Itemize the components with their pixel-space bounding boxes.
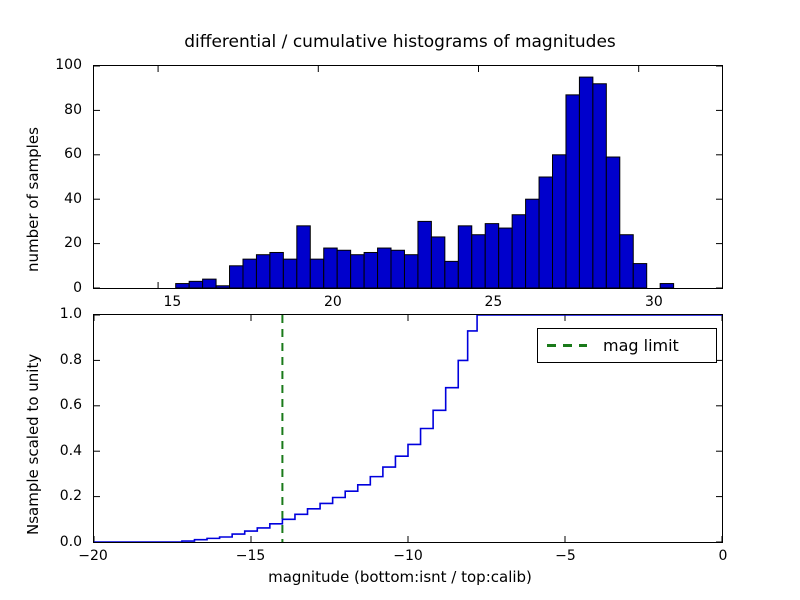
top-xtick-25: 25 [484,294,502,310]
differential-histogram-plot [93,65,723,289]
bottom-xtick-0: 0 [719,548,728,564]
histogram-bar [431,237,444,288]
histogram-bar [579,77,592,288]
top-xtick-30: 30 [645,294,663,310]
histogram-bar [485,224,498,288]
histogram-bar [566,95,579,288]
top-xtick-20: 20 [324,294,342,310]
histogram-bar [230,266,243,288]
top-ytick-20: 20 [46,235,82,251]
mag-limit-legend-swatch [547,344,587,347]
histogram-bar [499,228,512,288]
bottom-xtick-m20: −20 [78,548,108,564]
histogram-bar [593,84,606,288]
histogram-bar [337,250,350,288]
histogram-bar [176,284,189,288]
top-ytick-0: 0 [46,280,82,296]
bottom-ytick-06: 0.6 [40,397,82,413]
histogram-bar [216,286,229,288]
histogram-bar [256,255,269,288]
bottom-ytick-08: 0.8 [40,352,82,368]
histogram-bar [512,215,525,288]
histogram-bar [297,226,310,288]
histogram-bar [418,221,431,288]
bottom-axis-x-label: magnitude (bottom:isnt / top:calib) [0,568,800,586]
histogram-bar [364,252,377,288]
bottom-xtick-m5: −5 [555,548,576,564]
histogram-bar [283,259,296,288]
histogram-bar [243,259,256,288]
bottom-ytick-0: 0.0 [40,534,82,550]
top-xtick-15: 15 [163,294,181,310]
histogram-bar [378,248,391,288]
top-ytick-80: 80 [46,102,82,118]
differential-histogram-svg [94,66,722,288]
histogram-bar [458,226,471,288]
histogram-bar [324,248,337,288]
legend-label-mag-limit: mag limit [603,336,679,355]
histogram-bar [472,235,485,288]
bottom-xtick-m10: −10 [393,548,423,564]
histogram-bar [553,155,566,288]
histogram-bar [310,259,323,288]
histogram-bar [620,235,633,288]
histogram-bar [404,255,417,288]
top-ytick-100: 100 [46,57,82,73]
bottom-ytick-10: 1.0 [40,306,82,322]
histogram-bar [351,255,364,288]
histogram-bar [189,281,202,288]
histogram-bar [445,261,458,288]
histogram-bar [526,199,539,288]
legend-box[interactable]: mag limit [537,328,717,363]
bottom-xtick-m15: −15 [236,548,266,564]
histogram-bar [660,284,673,288]
histogram-bar [203,279,216,288]
top-axis-y-label: number of samples [24,127,42,272]
top-ytick-60: 60 [46,146,82,162]
top-ytick-40: 40 [46,191,82,207]
histogram-bar [633,264,646,288]
histogram-bar [270,252,283,288]
histogram-bar [606,157,619,288]
figure-canvas: differential / cumulative histograms of … [0,0,800,600]
bottom-ytick-02: 0.2 [40,488,82,504]
histogram-bar [539,177,552,288]
bottom-ytick-04: 0.4 [40,443,82,459]
histogram-bar [391,250,404,288]
page-title: differential / cumulative histograms of … [0,32,800,52]
